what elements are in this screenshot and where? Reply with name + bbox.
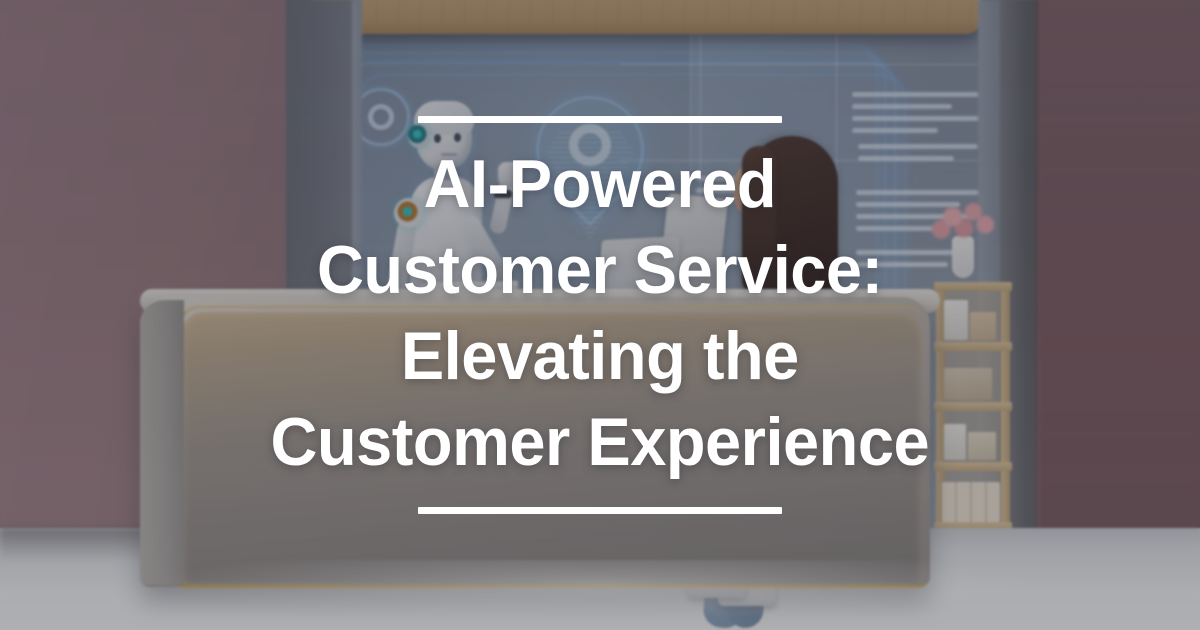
title-line-1: AI-Powered <box>271 141 930 227</box>
banner-content: AI-Powered Customer Service: Elevating t… <box>0 0 1200 630</box>
banner-canvas: AI-Powered Customer Service: Elevating t… <box>0 0 1200 630</box>
title-line-3: Elevating the <box>271 313 930 399</box>
divider-bottom <box>418 507 782 514</box>
page-title: AI-Powered Customer Service: Elevating t… <box>271 141 930 485</box>
title-line-2: Customer Service: <box>271 227 930 313</box>
title-line-4: Customer Experience <box>271 399 930 485</box>
divider-top <box>418 116 782 123</box>
